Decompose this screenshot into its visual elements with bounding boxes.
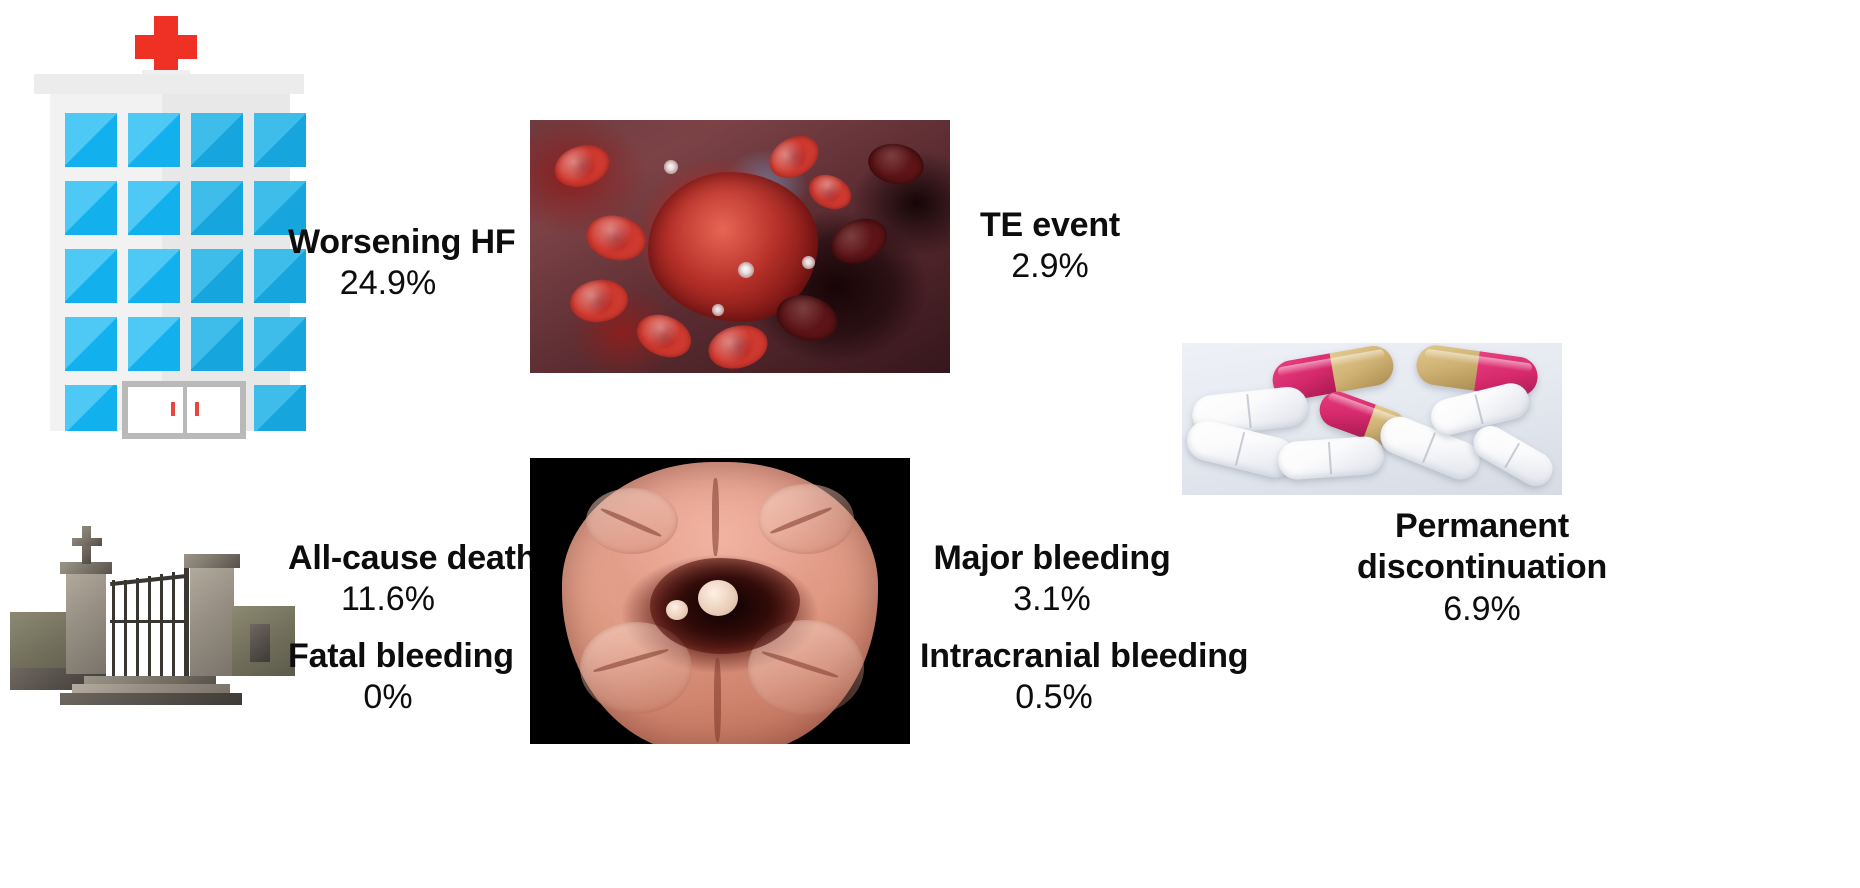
- outcome-value-text: 3.1%: [932, 579, 1172, 620]
- brain-specimen: [562, 462, 878, 744]
- outcome-value-text: 11.6%: [288, 579, 488, 620]
- hospital-window: [254, 385, 306, 431]
- brain-midline-structure: [698, 580, 738, 616]
- cemetery-gate-bar: [112, 580, 115, 676]
- outcome-value-text: 0.5%: [920, 677, 1188, 718]
- hospital-door-handle: [171, 402, 175, 416]
- outcome-label-text-line2: discontinuation: [1332, 547, 1632, 588]
- white-caplet: [1277, 435, 1385, 480]
- brain-sulcus: [714, 658, 721, 742]
- brain-hemorrhage-photo: [530, 458, 910, 744]
- infographic-canvas: Worsening HF 24.9% TE event 2.9%: [0, 0, 1860, 888]
- red-blood-cell: [865, 139, 927, 188]
- outcome-label-te-event: TE event 2.9%: [955, 205, 1145, 288]
- hospital-window: [65, 181, 117, 235]
- hospital-door-divider: [183, 387, 187, 433]
- outcome-label-text: Intracranial bleeding: [920, 636, 1188, 677]
- red-blood-cell: [824, 211, 894, 272]
- hospital-window: [65, 385, 117, 431]
- outcome-label-text-line1: Permanent: [1332, 506, 1632, 547]
- platelet: [664, 160, 678, 174]
- platelet: [802, 256, 815, 269]
- brain-midline-structure: [666, 600, 688, 620]
- outcome-label-text: TE event: [955, 205, 1145, 246]
- brain-sulcus: [712, 478, 719, 556]
- red-blood-cell: [549, 138, 615, 193]
- outcome-label-all-cause-death: All-cause death 11.6%: [288, 538, 488, 621]
- cemetery-pillar-right: [190, 564, 234, 676]
- hospital-window: [65, 249, 117, 303]
- platelet: [712, 304, 724, 316]
- outcome-label-text: Major bleeding: [932, 538, 1172, 579]
- hospital-window: [254, 317, 306, 371]
- hospital-window: [65, 317, 117, 371]
- hospital-window: [191, 113, 243, 167]
- white-caplet: [1467, 420, 1558, 492]
- pills-photo: [1182, 343, 1562, 495]
- cemetery-wall-right-opening: [250, 624, 270, 662]
- outcome-label-text: Worsening HF: [288, 222, 488, 263]
- hospital-window: [191, 249, 243, 303]
- outcome-value-text: 24.9%: [288, 263, 488, 304]
- cemetery-gate-bar: [136, 578, 139, 676]
- cemetery-gate-photo: [10, 520, 295, 708]
- hospital-building-icon: [22, 8, 312, 438]
- hospital-window: [128, 113, 180, 167]
- red-blood-cell: [631, 307, 698, 365]
- cemetery-gate-bar: [172, 572, 175, 676]
- outcome-label-worsening-hf: Worsening HF 24.9%: [288, 222, 488, 305]
- outcome-value-text: 0%: [288, 677, 488, 718]
- hospital-roof: [34, 74, 304, 94]
- hospital-window: [128, 181, 180, 235]
- cemetery-gate-bar: [148, 576, 151, 676]
- cemetery-step: [60, 693, 242, 705]
- cemetery-gate-bar: [124, 580, 127, 676]
- outcome-value-text: 6.9%: [1332, 589, 1632, 630]
- cemetery-cross-bar-icon: [72, 538, 102, 546]
- cemetery-gate-post: [184, 560, 189, 676]
- hospital-window: [128, 317, 180, 371]
- red-blood-cell: [567, 276, 630, 326]
- blood-clot-photo: [530, 120, 950, 373]
- red-blood-cell: [582, 210, 650, 266]
- red-blood-cell: [704, 319, 772, 373]
- cemetery-gate-bar: [160, 574, 163, 676]
- platelet: [738, 262, 754, 278]
- hospital-window: [254, 113, 306, 167]
- hospital-window: [191, 317, 243, 371]
- hospital-door-handle: [195, 402, 199, 416]
- outcome-label-fatal-bleeding: Fatal bleeding 0%: [288, 636, 488, 719]
- outcome-label-text: Fatal bleeding: [288, 636, 488, 677]
- cemetery-pillar-right-cap: [184, 554, 240, 568]
- outcome-label-permanent-discontinuation: Permanent discontinuation 6.9%: [1332, 506, 1632, 630]
- red-blood-cell: [803, 168, 856, 215]
- outcome-label-major-bleeding: Major bleeding 3.1%: [932, 538, 1172, 621]
- outcome-label-text: All-cause death: [288, 538, 488, 579]
- hospital-window: [191, 181, 243, 235]
- outcome-value-text: 2.9%: [955, 246, 1145, 287]
- cemetery-pillar-left: [66, 570, 106, 674]
- hospital-window: [128, 249, 180, 303]
- hospital-window: [65, 113, 117, 167]
- red-cross-bar-icon: [135, 35, 197, 59]
- outcome-label-intracranial-bleeding: Intracranial bleeding 0.5%: [920, 636, 1188, 719]
